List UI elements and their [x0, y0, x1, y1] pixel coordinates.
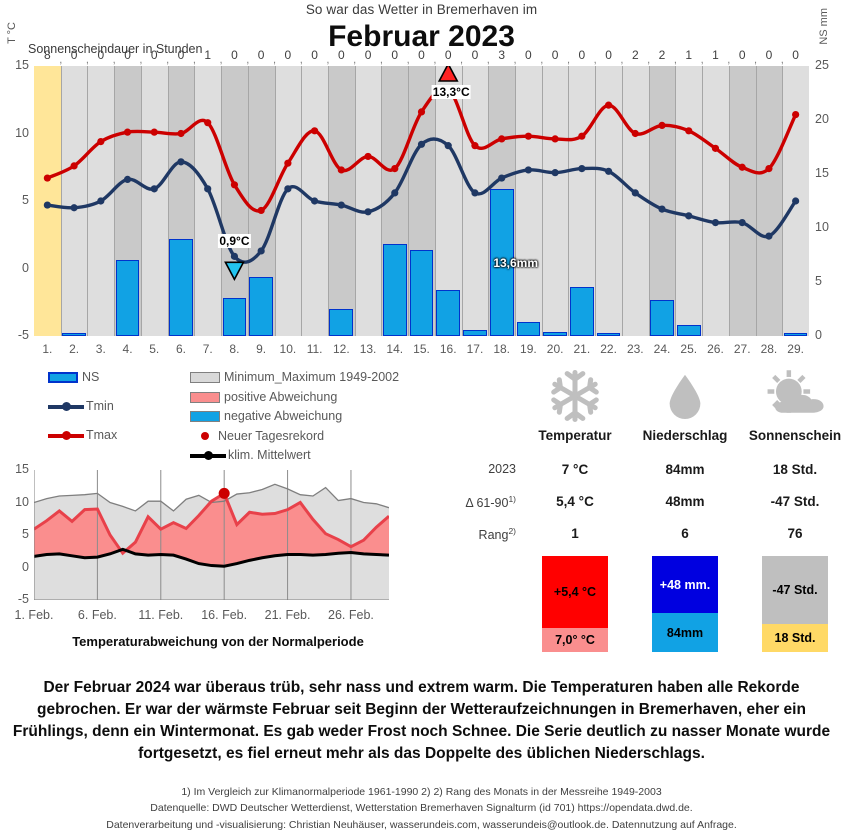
- sunshine-hours-value: 0: [739, 48, 746, 62]
- y-axis-label-temperature: T °C: [6, 22, 18, 44]
- summary-stack-bar-sunshine: -47 Std.18 Std.: [762, 556, 828, 652]
- sunshine-hours-value: 0: [151, 48, 158, 62]
- sunshine-tick-separator: ,: [246, 54, 249, 66]
- minmax-band: [595, 66, 622, 336]
- y-tick-left: 0: [3, 261, 29, 275]
- minmax-band: [34, 66, 61, 336]
- precipitation-bar: [329, 309, 353, 336]
- gridline: [782, 66, 783, 336]
- snowflake-icon: [532, 366, 618, 424]
- y-tick-left: 5: [3, 193, 29, 207]
- sunshine-hours-value: 0: [97, 48, 104, 62]
- sunshine-hours-value: 0: [445, 48, 452, 62]
- deviation-y-tick: -5: [3, 592, 29, 606]
- deviation-plot-area: [34, 470, 389, 600]
- sunshine-tick-separator: ,: [433, 54, 436, 66]
- legend-label: Tmin: [86, 399, 114, 413]
- x-tick-day: 17.: [467, 342, 484, 356]
- sunshine-hours-value: 0: [285, 48, 292, 62]
- summary-value-year-precipitation: 84mm: [625, 462, 745, 477]
- sunshine-tick-separator: ,: [460, 54, 463, 66]
- x-tick-day: 27.: [734, 342, 751, 356]
- x-tick-day: 14.: [386, 342, 403, 356]
- sunshine-hours-value: 0: [391, 48, 398, 62]
- sunshine-hours-value: 1: [685, 48, 692, 62]
- x-tick-day: 24.: [654, 342, 671, 356]
- footnote-line-3: Datenverarbeitung und -visualisierung: C…: [10, 817, 833, 833]
- precipitation-bar: [436, 290, 460, 336]
- summary-stack-bar-temperature: +5,4 °C7,0° °C: [542, 556, 608, 652]
- y-tick-right: 0: [815, 328, 841, 342]
- legend-label: Neuer Tagesrekord: [218, 429, 324, 443]
- y-axis-label-precipitation: NS mm: [818, 8, 830, 45]
- snowflake-icon: [547, 368, 603, 424]
- summary-value-rank-temperature: 1: [515, 526, 635, 541]
- sunshine-hours-value: 0: [552, 48, 559, 62]
- sunshine-tick-separator: ,: [594, 54, 597, 66]
- gridline: [328, 66, 329, 336]
- x-tick-day: 5.: [149, 342, 159, 356]
- precipitation-bar: [116, 260, 140, 336]
- sunshine-hours-value: 0: [365, 48, 372, 62]
- y-tick-right: 25: [815, 58, 841, 72]
- legend-swatch-line: [190, 454, 226, 458]
- precipitation-bar: [249, 277, 273, 336]
- legend-item-tmax[interactable]: Tmax: [48, 428, 117, 442]
- minmax-band: [756, 66, 783, 336]
- x-tick-day: 15.: [413, 342, 430, 356]
- sunshine-hours-value: 0: [525, 48, 532, 62]
- minmax-band: [649, 66, 676, 336]
- precipitation-bar: [517, 322, 541, 336]
- minmax-band: [462, 66, 489, 336]
- annotation-max-precip: 13,6mm: [492, 256, 539, 270]
- sunshine-hours-value: 0: [231, 48, 238, 62]
- sunshine-hours-value: 8: [44, 48, 51, 62]
- chart-legend: NSTminTmaxMinimum_Maximum 1949-2002posit…: [0, 370, 440, 460]
- sunshine-tick-separator: ,: [326, 54, 329, 66]
- gridline: [542, 66, 543, 336]
- main-plot-area: [34, 66, 809, 336]
- legend-swatch-box: [190, 372, 220, 383]
- sunshine-tick-separator: ,: [540, 54, 543, 66]
- raindrop-icon: [642, 366, 728, 424]
- x-tick-day: 7.: [203, 342, 213, 356]
- stack-segment-bottom: 18 Std.: [762, 624, 828, 652]
- gridline: [194, 66, 195, 336]
- deviation-x-tick: 6. Feb.: [78, 608, 117, 622]
- annotation-record-max: 13,3°C: [432, 85, 471, 99]
- legend-item-negative-abweichung[interactable]: negative Abweichung: [190, 409, 342, 423]
- sunshine-tick-separator: ,: [647, 54, 650, 66]
- stack-segment-bottom: 7,0° °C: [542, 628, 608, 652]
- minmax-band: [141, 66, 168, 336]
- deviation-x-tick: 26. Feb.: [328, 608, 374, 622]
- sunshine-tick-separator: ,: [113, 54, 116, 66]
- sunshine-tick-separator: ,: [166, 54, 169, 66]
- sunshine-hours-value: 3: [498, 48, 505, 62]
- summary-value-year-sunshine: 18 Std.: [735, 462, 843, 477]
- sunshine-hours-value: 2: [659, 48, 666, 62]
- legend-label: klim. Mittelwert: [228, 448, 311, 462]
- legend-item-klim-mittelwert[interactable]: klim. Mittelwert: [190, 448, 311, 462]
- summary-value-delta-precipitation: 48mm: [625, 494, 745, 509]
- x-tick-day: 2.: [69, 342, 79, 356]
- sunshine-tick-separator: ,: [86, 54, 89, 66]
- minmax-band: [221, 66, 248, 336]
- sunshine-tick-separator: ,: [567, 54, 570, 66]
- legend-swatch-box: [190, 411, 220, 422]
- legend-item-ns[interactable]: NS: [48, 370, 99, 384]
- gridline: [275, 66, 276, 336]
- gridline: [301, 66, 302, 336]
- x-tick-day: 13.: [360, 342, 377, 356]
- gridline: [756, 66, 757, 336]
- precipitation-bar: [543, 332, 567, 336]
- legend-label: Minimum_Maximum 1949-2002: [224, 370, 399, 384]
- x-tick-day: 11.: [307, 342, 323, 356]
- gridline: [355, 66, 356, 336]
- gridline: [221, 66, 222, 336]
- sunshine-hours-value: 0: [766, 48, 773, 62]
- main-daily-chart: 151050-5 2520151050 8,0,0,0,0,0,1,0,0,0,…: [34, 66, 809, 336]
- precipitation-bar: [784, 333, 808, 336]
- precipitation-bar: [410, 250, 434, 336]
- summary-value-rank-precipitation: 6: [625, 526, 745, 541]
- deviation-caption: Temperaturabweichung von der Normalperio…: [8, 634, 428, 649]
- summary-row-label-year: 2023: [430, 462, 516, 476]
- legend-item-tmin[interactable]: Tmin: [48, 399, 114, 413]
- deviation-chart: 151050-5 1. Feb.6. Feb.11. Feb.16. Feb.2…: [34, 470, 424, 655]
- legend-label: positive Abweichung: [224, 390, 337, 404]
- minmax-band: [622, 66, 649, 336]
- sunshine-hours-value: 1: [712, 48, 719, 62]
- x-tick-day: 23.: [627, 342, 644, 356]
- legend-label: NS: [82, 370, 99, 384]
- sunshine-tick-separator: ,: [620, 54, 623, 66]
- sunshine-hours-value: 2: [632, 48, 639, 62]
- legend-swatch-bar: [48, 372, 78, 383]
- x-tick-day: 6.: [176, 342, 186, 356]
- legend-swatch-line: [48, 434, 84, 438]
- precipitation-bar: [650, 300, 674, 336]
- minmax-band: [355, 66, 382, 336]
- sunshine-hours-value: 0: [258, 48, 265, 62]
- x-tick-day: 3.: [96, 342, 106, 356]
- y-tick-right: 15: [815, 166, 841, 180]
- summary-value-delta-temperature: 5,4 °C: [515, 494, 635, 509]
- summary-value-delta-sunshine: -47 Std.: [735, 494, 843, 509]
- precipitation-bar: [62, 333, 86, 336]
- sunshine-hours-value: 0: [178, 48, 185, 62]
- legend-label: negative Abweichung: [224, 409, 342, 423]
- precipitation-bar: [597, 333, 621, 336]
- y-tick-right: 5: [815, 274, 841, 288]
- minmax-band: [194, 66, 221, 336]
- y-tick-right: 20: [815, 112, 841, 126]
- deviation-x-tick: 11. Feb.: [138, 608, 183, 622]
- sun-cloud-icon: [752, 366, 838, 424]
- x-tick-day: 18.: [493, 342, 510, 356]
- minmax-band: [729, 66, 756, 336]
- weather-report-page: So war das Wetter in Bremerhaven im Febr…: [0, 0, 843, 837]
- sunshine-tick-separator: ,: [727, 54, 730, 66]
- deviation-y-tick: 5: [3, 527, 29, 541]
- precipitation-bar: [169, 239, 193, 336]
- y-tick-left: -5: [3, 328, 29, 342]
- sunshine-hours-value: 0: [472, 48, 479, 62]
- x-tick-day: 28.: [761, 342, 778, 356]
- monthly-summary-panel: Temperatur Niederschlag Sonnenschein2023…: [430, 366, 843, 661]
- sunshine-tick-separator: ,: [674, 54, 677, 66]
- summary-row-label-delta: Δ 61-901): [430, 494, 516, 510]
- x-tick-day: 1.: [42, 342, 52, 356]
- x-tick-day: 4.: [123, 342, 133, 356]
- sunshine-tick-separator: ,: [701, 54, 704, 66]
- summary-value-year-temperature: 7 °C: [515, 462, 635, 477]
- summary-paragraph: Der Februar 2024 war überaus trüb, sehr …: [10, 677, 833, 765]
- precipitation-bar: [463, 330, 487, 336]
- x-tick-day: 26.: [707, 342, 724, 356]
- x-tick-day: 21.: [574, 342, 591, 356]
- x-tick-day: 12.: [333, 342, 350, 356]
- gridline: [649, 66, 650, 336]
- footnote-line-2: Datenquelle: DWD Deutscher Wetterdienst,…: [10, 800, 833, 816]
- minmax-band: [61, 66, 88, 336]
- legend-item-neuer-tagesrekord[interactable]: Neuer Tagesrekord: [190, 429, 324, 443]
- y-tick-right: 10: [815, 220, 841, 234]
- gridline: [462, 66, 463, 336]
- deviation-x-tick: 21. Feb.: [265, 608, 311, 622]
- x-tick-day: 20.: [547, 342, 564, 356]
- sunshine-hours-value: 0: [418, 48, 425, 62]
- sun-cloud-icon: [764, 368, 826, 424]
- gridline: [381, 66, 382, 336]
- minmax-band: [542, 66, 569, 336]
- sunshine-hours-value: 0: [605, 48, 612, 62]
- deviation-x-tick: 16. Feb.: [201, 608, 247, 622]
- gridline: [87, 66, 88, 336]
- stack-segment-top: +48 mm.: [652, 556, 718, 613]
- minmax-band: [87, 66, 114, 336]
- sunshine-tick-separator: ,: [380, 54, 383, 66]
- annotation-min-temp: 0,9°C: [218, 234, 250, 248]
- sunshine-tick-separator: ,: [754, 54, 757, 66]
- deviation-x-tick: 1. Feb.: [15, 608, 54, 622]
- y-tick-left: 10: [3, 126, 29, 140]
- sunshine-hours-value: 0: [311, 48, 318, 62]
- summary-stack-bar-precipitation: +48 mm.84mm: [652, 556, 718, 652]
- minmax-band: [515, 66, 542, 336]
- x-tick-day: 29.: [787, 342, 804, 356]
- summary-column-header-sunshine: Sonnenschein: [730, 428, 843, 443]
- minmax-band: [782, 66, 809, 336]
- sunshine-tick-separator: ,: [59, 54, 62, 66]
- x-tick-day: 22.: [600, 342, 617, 356]
- sunshine-tick-separator: ,: [300, 54, 303, 66]
- gridline: [141, 66, 142, 336]
- footnotes: 1) Im Vergleich zur Klimanormalperiode 1…: [10, 784, 833, 833]
- x-tick-day: 19.: [520, 342, 537, 356]
- gridline: [622, 66, 623, 336]
- precipitation-bar: [677, 325, 701, 336]
- deviation-y-tick: 0: [3, 560, 29, 574]
- sunshine-hours-value: 0: [124, 48, 131, 62]
- sunshine-hours-value: 0: [579, 48, 586, 62]
- sunshine-hours-value: 0: [71, 48, 78, 62]
- x-tick-day: 9.: [256, 342, 266, 356]
- minmax-band: [702, 66, 729, 336]
- legend-swatch-box: [190, 392, 220, 403]
- sunshine-tick-separator: ,: [487, 54, 490, 66]
- stack-segment-bottom: 84mm: [652, 613, 718, 652]
- sunshine-tick-separator: ,: [139, 54, 142, 66]
- summary-row-label-rank: Rang2): [430, 526, 516, 542]
- minmax-band: [328, 66, 355, 336]
- gridline: [675, 66, 676, 336]
- stack-segment-top: -47 Std.: [762, 556, 828, 624]
- sunshine-tick-separator: ,: [407, 54, 410, 66]
- gridline: [515, 66, 516, 336]
- precipitation-bar: [223, 298, 247, 336]
- x-tick-day: 8.: [229, 342, 239, 356]
- raindrop-icon: [661, 368, 709, 424]
- legend-item-positive-abweichung[interactable]: positive Abweichung: [190, 390, 337, 404]
- x-tick-day: 16.: [440, 342, 457, 356]
- sunshine-hours-value: 0: [338, 48, 345, 62]
- x-tick-day: 10.: [280, 342, 297, 356]
- sunshine-tick-separator: ,: [273, 54, 276, 66]
- sunshine-hours-value: 0: [792, 48, 799, 62]
- sunshine-tick-separator: ,: [514, 54, 517, 66]
- minmax-band: [301, 66, 328, 336]
- x-tick-day: 25.: [680, 342, 697, 356]
- precipitation-bar: [383, 244, 407, 336]
- summary-value-rank-sunshine: 76: [735, 526, 843, 541]
- minmax-band: [675, 66, 702, 336]
- gridline: [729, 66, 730, 336]
- footnote-line-1: 1) Im Vergleich zur Klimanormalperiode 1…: [10, 784, 833, 800]
- deviation-y-tick: 10: [3, 495, 29, 509]
- sunshine-tick-separator: ,: [353, 54, 356, 66]
- header-subtitle: So war das Wetter in Bremerhaven im: [0, 2, 843, 17]
- deviation-y-tick: 15: [3, 462, 29, 476]
- sunshine-tick-separator: ,: [193, 54, 196, 66]
- legend-item-minimum-maximum-1949-2002[interactable]: Minimum_Maximum 1949-2002: [190, 370, 399, 384]
- sunshine-tick-separator: ,: [220, 54, 223, 66]
- gridline: [595, 66, 596, 336]
- gridline: [568, 66, 569, 336]
- legend-label: Tmax: [86, 428, 117, 442]
- y-tick-left: 15: [3, 58, 29, 72]
- legend-swatch-line: [48, 405, 84, 409]
- stack-segment-top: +5,4 °C: [542, 556, 608, 628]
- legend-swatch-dot: [201, 432, 209, 440]
- gridline: [702, 66, 703, 336]
- gridline: [61, 66, 62, 336]
- sunshine-tick-separator: ,: [781, 54, 784, 66]
- sunshine-hours-value: 1: [204, 48, 211, 62]
- precipitation-bar: [570, 287, 594, 336]
- minmax-band: [275, 66, 302, 336]
